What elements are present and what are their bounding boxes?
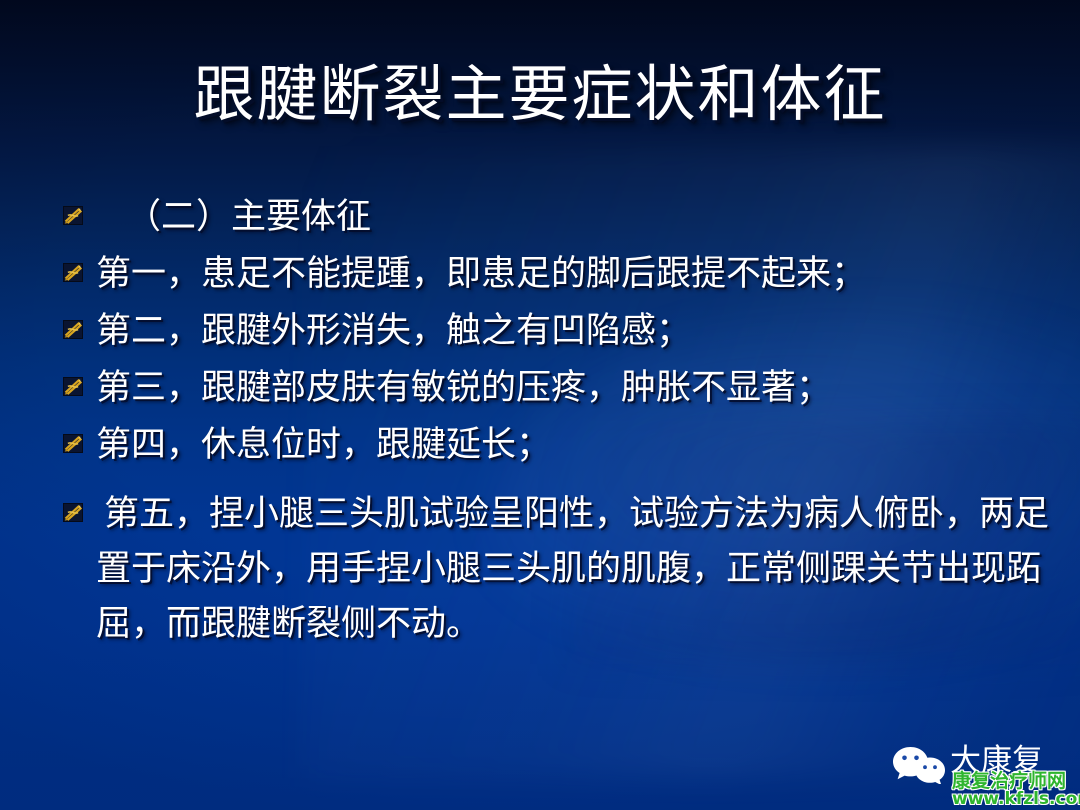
list-item-label: 第一，患足不能提踵，即患足的脚后跟提不起来； [96,247,1072,302]
pen-bullet-icon [62,320,84,340]
watermark: 大康复 康复治疗师网 www.kfzls.com [886,740,1072,806]
watermark-site-url: www.kfzls.com [952,790,1080,809]
list-item: 第五，捏小腿三头肌试验呈阳性，试验方法为病人俯卧，两足置于床沿外，用手捏小腿三头… [62,487,1072,652]
list-item-label: 第二，跟腱外形消失，触之有凹陷感； [96,304,1072,359]
list-item: 第一，患足不能提踵，即患足的脚后跟提不起来； [62,247,1072,302]
pen-bullet-icon [62,377,84,397]
list-item-label: （二）主要体征 [96,190,1072,245]
wechat-icon [890,744,948,784]
list-item: （二）主要体征 [62,190,1072,245]
bullet-list: （二）主要体征 第一，患足不能提踵，即患足的脚后跟提不起来； [62,190,1072,654]
pen-bullet-icon [62,503,84,523]
pen-bullet-icon [62,263,84,283]
list-item-label: 第四，休息位时，跟腱延长； [96,418,1072,473]
list-item: 第三，跟腱部皮肤有敏锐的压疼，肿胀不显著； [62,361,1072,416]
pen-bullet-icon [62,206,84,226]
list-item: 第四，休息位时，跟腱延长； [62,418,1072,473]
list-item-label: 第三，跟腱部皮肤有敏锐的压疼，肿胀不显著； [96,361,1072,416]
list-item-label: 第五，捏小腿三头肌试验呈阳性，试验方法为病人俯卧，两足置于床沿外，用手捏小腿三头… [96,487,1072,652]
slide-title: 跟腱断裂主要症状和体征 [0,56,1080,134]
list-item: 第二，跟腱外形消失，触之有凹陷感； [62,304,1072,359]
presentation-slide: 跟腱断裂主要症状和体征 （二）主要体征 [0,0,1080,810]
pen-bullet-icon [62,434,84,454]
